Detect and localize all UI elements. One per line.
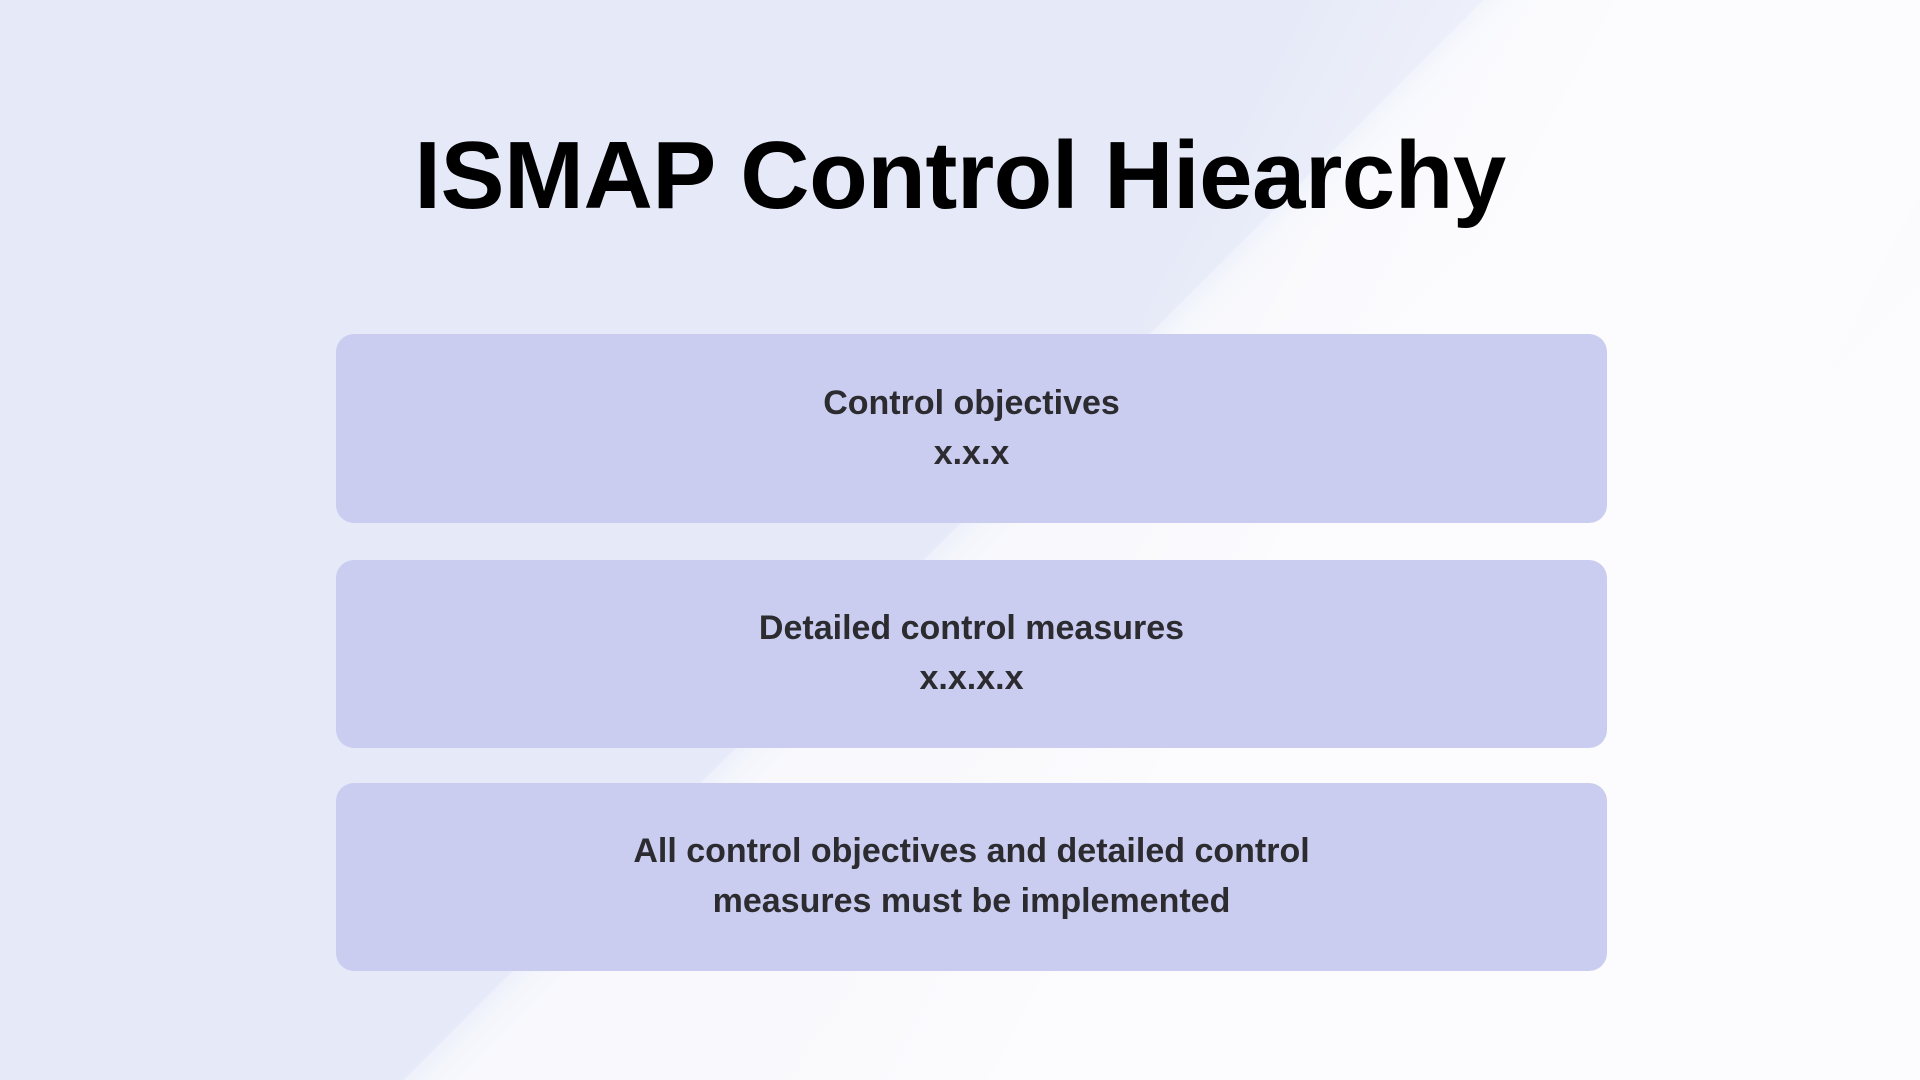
hierarchy-card-stack: Control objectives x.x.x Detailed contro… <box>336 334 1607 971</box>
card-2-line-2: x.x.x.x <box>920 654 1024 704</box>
card-3-line-1: All control objectives and detailed cont… <box>633 827 1309 877</box>
page-title: ISMAP Control Hiearchy <box>0 124 1920 228</box>
card-1-line-2: x.x.x <box>934 429 1010 479</box>
card-1-line-1: Control objectives <box>823 379 1120 429</box>
card-2-line-1: Detailed control measures <box>759 604 1184 654</box>
hierarchy-card-detailed-control-measures[interactable]: Detailed control measures x.x.x.x <box>336 560 1607 748</box>
hierarchy-card-implementation-requirement[interactable]: All control objectives and detailed cont… <box>336 783 1607 971</box>
slide-canvas: ISMAP Control Hiearchy Control objective… <box>0 0 1920 1080</box>
card-3-line-2: measures must be implemented <box>713 877 1231 927</box>
slide-content: ISMAP Control Hiearchy Control objective… <box>0 0 1920 1080</box>
hierarchy-card-control-objectives[interactable]: Control objectives x.x.x <box>336 334 1607 523</box>
